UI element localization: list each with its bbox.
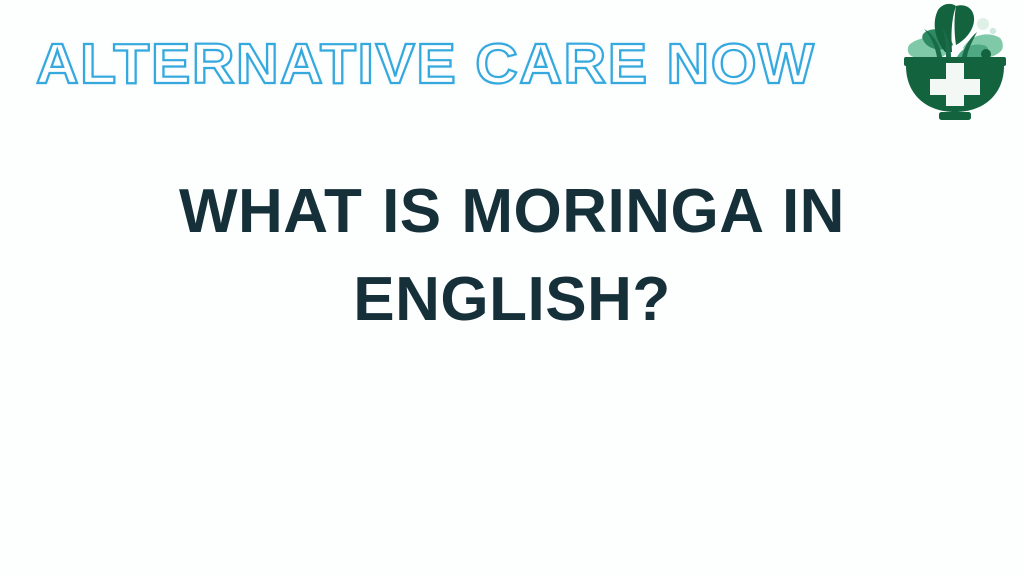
brand-name-text: ALTERNATIVE CARE NOW bbox=[36, 36, 815, 93]
brand-wordmark[interactable]: ALTERNATIVE CARE NOW bbox=[36, 22, 836, 106]
content-empty-area bbox=[0, 340, 1024, 576]
headline-block: WHAT IS MORINGA IN ENGLISH? bbox=[0, 168, 1024, 344]
mortar-bowl-herbs-cross-logo[interactable] bbox=[894, 0, 1016, 124]
header-band: ALTERNATIVE CARE NOW bbox=[0, 0, 1024, 128]
accent-dot-large bbox=[977, 18, 989, 30]
page-title-line-1: WHAT IS MORINGA IN bbox=[0, 168, 1024, 256]
accent-dot-small bbox=[990, 28, 996, 34]
bowl-base bbox=[939, 112, 971, 120]
page-title-line-2: ENGLISH? bbox=[0, 256, 1024, 344]
slide-canvas: ALTERNATIVE CARE NOW bbox=[0, 0, 1024, 576]
